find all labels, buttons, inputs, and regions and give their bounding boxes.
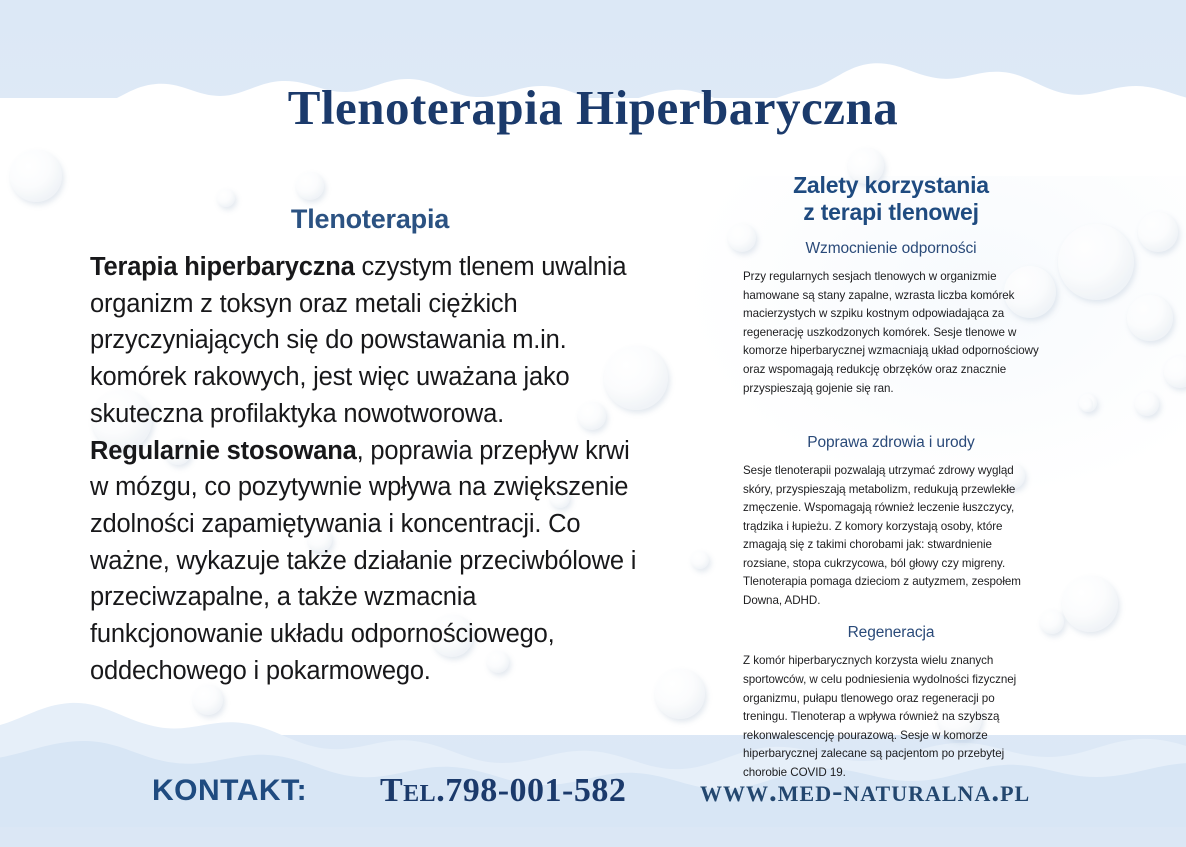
benefit-body-health-beauty: Sesje tlenoterapii pozwalają utrzymać zd… [743,462,1039,610]
contact-website[interactable]: www.med-naturalna.pl [700,773,1030,809]
right-title-line-2: z terapi tlenowej [743,199,1039,226]
section-spacer-1 [743,398,1039,434]
benefit-section-health-beauty: Poprawa zdrowia i urody Sesje tlenoterap… [743,434,1039,610]
right-content-column: Zalety korzystania z terapi tlenowej Wzm… [743,172,1039,782]
left-column-body: Terapia hiperbaryczna czystym tlenem uwa… [90,249,650,690]
left-paragraph-1: Terapia hiperbaryczna czystym tlenem uwa… [90,249,650,433]
section-spacer-2 [743,610,1039,624]
left-paragraph-2: Regularnie stosowana, poprawia przepływ … [90,433,650,690]
footer-contact-bar: KONTAKT: Tel.798-001-582 www.med-natural… [0,755,1186,827]
contact-label: KONTAKT: [152,774,307,808]
poster-canvas: Tlenoterapia Hiperbaryczna Tlenoterapia … [0,0,1186,847]
benefit-heading-health-beauty: Poprawa zdrowia i urody [743,434,1039,452]
benefit-heading-regeneration: Regeneracja [743,624,1039,642]
left-content-column: Tlenoterapia Terapia hiperbaryczna czyst… [90,204,650,690]
left-paragraph-2-lead: Regularnie stosowana [90,437,357,465]
left-paragraph-1-lead: Terapia hiperbaryczna [90,253,355,281]
benefit-body-immunity: Przy regularnych sesjach tlenowych w org… [743,268,1039,398]
right-column-title: Zalety korzystania z terapi tlenowej [743,172,1039,226]
benefit-section-immunity: Wzmocnienie odporności Przy regularnych … [743,240,1039,398]
right-title-line-1: Zalety korzystania [743,172,1039,199]
contact-phone[interactable]: Tel.798-001-582 [380,772,626,810]
left-paragraph-2-text: , poprawia przepływ krwi w mózgu, co poz… [90,437,636,685]
benefit-heading-immunity: Wzmocnienie odporności [743,240,1039,258]
left-column-heading: Tlenoterapia [90,204,650,235]
page-title: Tlenoterapia Hiperbaryczna [0,79,1186,136]
